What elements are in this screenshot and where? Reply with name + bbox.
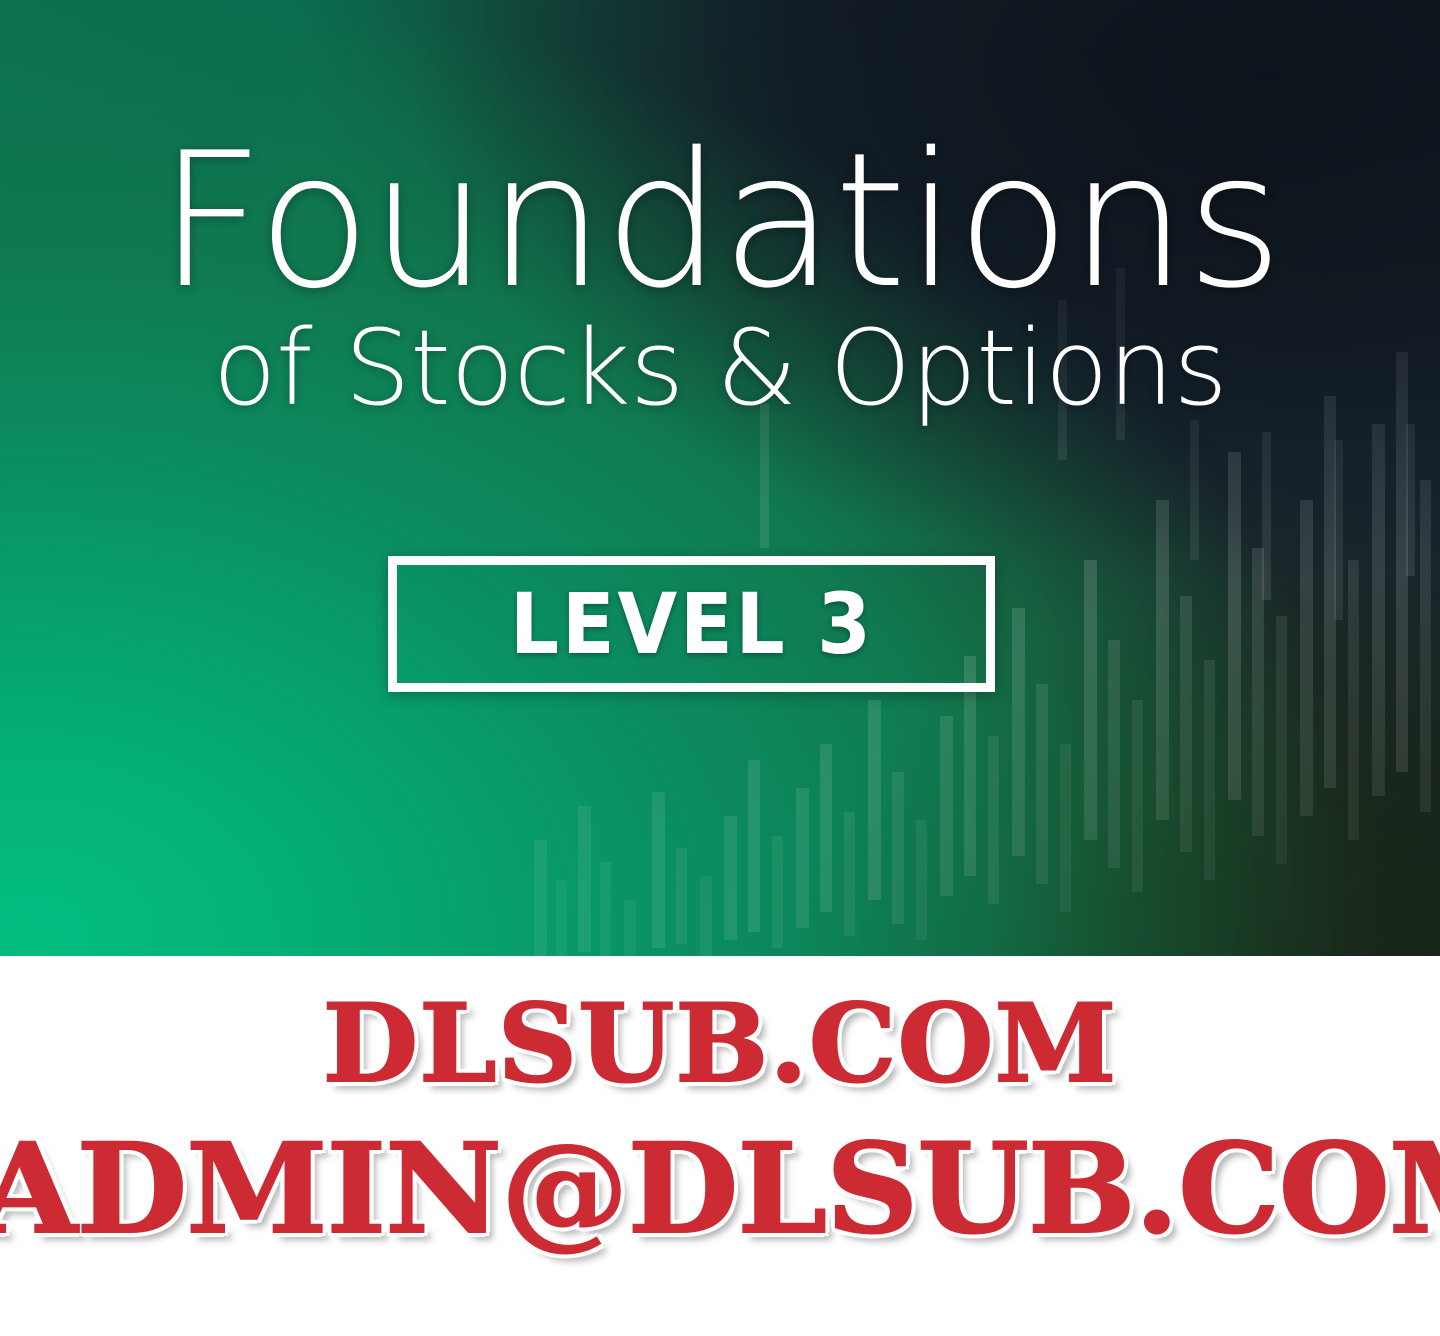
candlestick-bar — [1420, 480, 1431, 812]
candlestick-bar — [916, 820, 927, 940]
course-banner-page: Foundations of Stocks & Options LEVEL 3 … — [0, 0, 1440, 1336]
candlestick-bar — [1252, 548, 1264, 836]
candlestick-bar — [1276, 616, 1287, 864]
watermark-footer: DLSUB.COM ADMIN@DLSUB.COM — [0, 956, 1440, 1336]
watermark-email-text: ADMIN@DLSUB.COM — [0, 1128, 1440, 1252]
candlestick-bar — [652, 792, 665, 948]
candlestick-bar — [1300, 500, 1313, 816]
page-subtitle: of Stocks & Options — [0, 316, 1440, 420]
candlestick-bar — [578, 806, 591, 952]
candlestick-bar — [600, 862, 611, 956]
candlestick-bar — [1084, 560, 1097, 840]
candlestick-bar — [1372, 424, 1385, 796]
level-badge: LEVEL 3 — [388, 556, 995, 692]
candlestick-bar — [1348, 560, 1359, 840]
page-title: Foundations — [0, 128, 1440, 314]
level-badge-label: LEVEL 3 — [510, 582, 874, 666]
candlestick-bar — [1012, 608, 1025, 856]
candlestick-bar — [820, 744, 832, 912]
candlestick-bar — [772, 836, 783, 948]
candlestick-bar — [1334, 440, 1343, 620]
candlestick-bar — [1204, 660, 1215, 880]
candlestick-bar — [940, 716, 953, 896]
candlestick-bar — [534, 840, 547, 956]
candlestick-bar — [988, 736, 999, 904]
candlestick-bar — [1262, 432, 1271, 600]
candlestick-bar — [700, 876, 712, 956]
candlestick-bar — [1036, 684, 1048, 884]
candlestick-bar — [1060, 744, 1071, 912]
candlestick-bar — [868, 700, 881, 900]
watermark-site-text: DLSUB.COM — [0, 990, 1440, 1098]
candlestick-bar — [1228, 452, 1241, 800]
candlestick-bar — [1132, 700, 1143, 892]
candlestick-bar — [844, 812, 855, 936]
candlestick-bar — [748, 760, 760, 932]
candlestick-bar — [1324, 396, 1336, 788]
candlestick-bar — [1406, 424, 1415, 576]
candlestick-bar — [892, 772, 904, 924]
candlestick-bar — [1108, 640, 1120, 868]
candlestick-bar — [1156, 500, 1169, 820]
candlestick-bar — [676, 848, 687, 944]
candlestick-bar — [1190, 420, 1199, 560]
level-badge-inner: LEVEL 3 — [397, 565, 986, 683]
candlestick-bar — [624, 900, 636, 956]
candlestick-bar — [724, 816, 737, 940]
hero-banner: Foundations of Stocks & Options LEVEL 3 — [0, 0, 1440, 956]
candlestick-bar — [556, 880, 567, 956]
candlestick-bar — [796, 788, 809, 928]
candlestick-bar — [1180, 596, 1192, 852]
